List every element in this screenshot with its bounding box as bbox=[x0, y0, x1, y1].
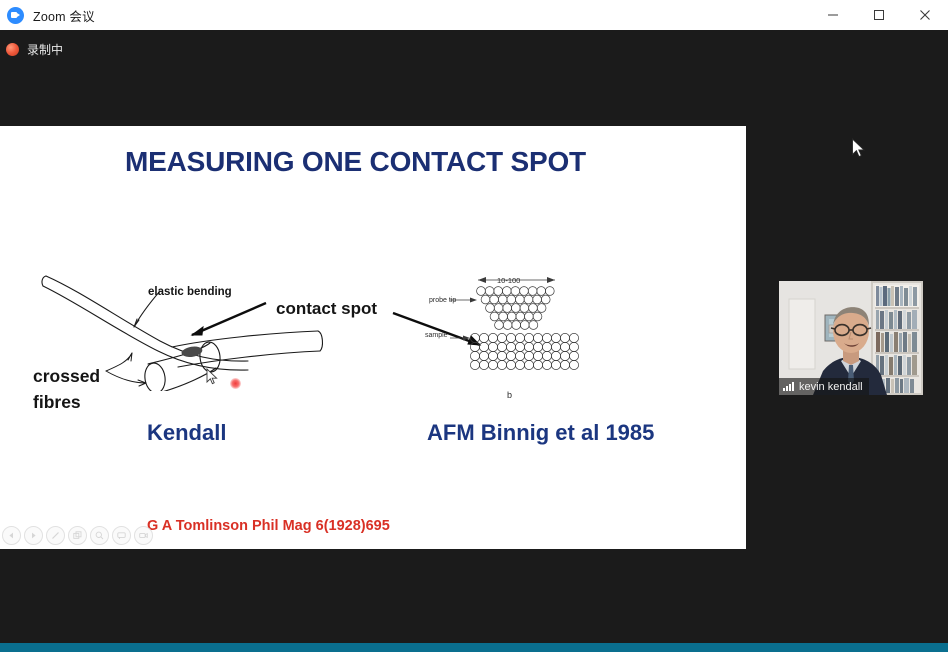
desktop-arrow-cursor bbox=[851, 138, 865, 159]
video-icon[interactable] bbox=[134, 526, 153, 545]
comment-icon[interactable] bbox=[112, 526, 131, 545]
bottom-accent-strip bbox=[0, 643, 948, 652]
title-bar: Zoom 会议 bbox=[0, 0, 948, 31]
caption-afm: AFM Binnig et al 1985 bbox=[427, 420, 654, 446]
caption-kendall: Kendall bbox=[147, 420, 226, 446]
back-icon[interactable] bbox=[2, 526, 21, 545]
label-sample: sample bbox=[425, 332, 448, 339]
window-controls bbox=[810, 0, 948, 30]
label-crossed-fibres-line2: fibres bbox=[33, 392, 81, 413]
signal-strength-icon bbox=[783, 382, 794, 391]
annotation-toolbar[interactable] bbox=[0, 524, 153, 546]
participant-name-strip: kevin kendall bbox=[779, 378, 869, 395]
laser-pointer-dot bbox=[230, 378, 241, 389]
minimize-button[interactable] bbox=[810, 0, 856, 30]
label-crossed-fibres-line1: crossed bbox=[33, 366, 100, 387]
slide-arrow-cursor bbox=[206, 368, 218, 386]
shared-screen-slide: MEASURING ONE CONTACT SPOT bbox=[0, 126, 746, 549]
participant-video-tile[interactable]: kevin kendall bbox=[779, 281, 923, 395]
window-title: Zoom 会议 bbox=[33, 6, 95, 25]
copy-icon[interactable] bbox=[68, 526, 87, 545]
label-probe-tip: probe tip bbox=[429, 297, 456, 304]
recording-bar: 录制中 bbox=[0, 30, 948, 68]
record-dot-icon[interactable] bbox=[6, 43, 19, 56]
recording-label: 录制中 bbox=[27, 41, 63, 58]
slide-title: MEASURING ONE CONTACT SPOT bbox=[125, 146, 586, 178]
pen-icon[interactable] bbox=[46, 526, 65, 545]
magnify-icon[interactable] bbox=[90, 526, 109, 545]
play-icon[interactable] bbox=[24, 526, 43, 545]
afm-diagram bbox=[420, 266, 600, 396]
label-dimension-range: 10-100 bbox=[497, 276, 520, 285]
participant-name: kevin kendall bbox=[799, 381, 863, 393]
close-button[interactable] bbox=[902, 0, 948, 30]
label-figure-letter: b bbox=[507, 390, 512, 400]
zoom-logo-icon bbox=[7, 7, 24, 24]
citation-text: G A Tomlinson Phil Mag 6(1928)695 bbox=[147, 518, 390, 534]
maximize-button[interactable] bbox=[856, 0, 902, 30]
